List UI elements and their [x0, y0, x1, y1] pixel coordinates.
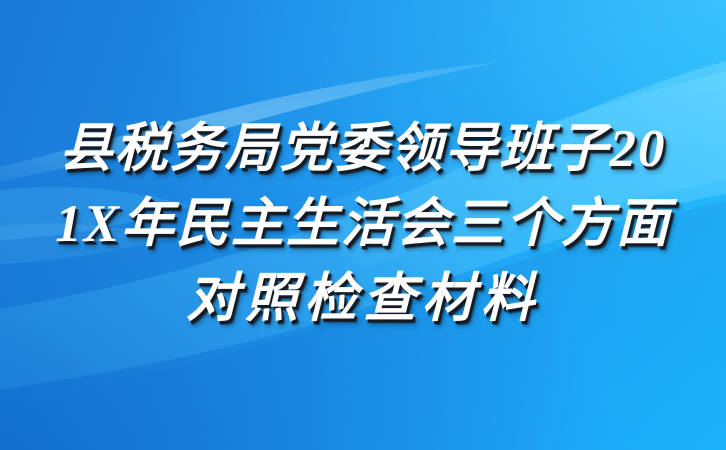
title-line-2: 1X年民主生活会三个方面: [0, 187, 726, 262]
poster-title: 县税务局党委领导班子20 1X年民主生活会三个方面 对照检查材料: [0, 112, 726, 337]
title-line-3: 对照检查材料: [0, 262, 726, 337]
poster-canvas: 县税务局党委领导班子20 1X年民主生活会三个方面 对照检查材料: [0, 0, 726, 450]
title-line-1: 县税务局党委领导班子20: [0, 112, 726, 187]
